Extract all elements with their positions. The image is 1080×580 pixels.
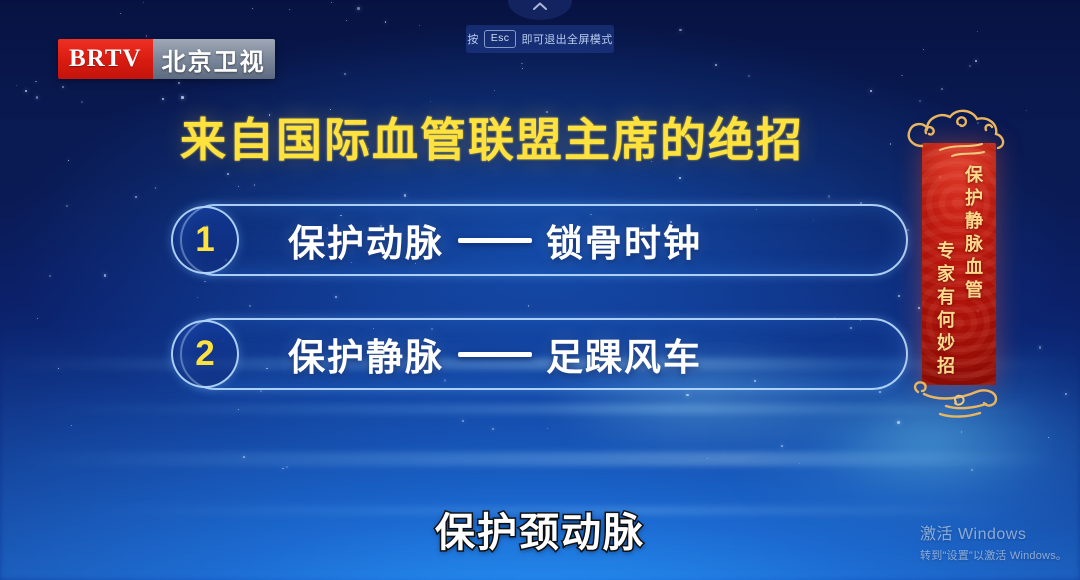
channel-logo-chinese: 北京卫视	[153, 39, 275, 79]
banner-column-left: 专家有何妙招	[932, 165, 958, 385]
list-item-text: 保护静脉 足踝风车	[288, 327, 702, 381]
video-player-fullscreen: 按 Esc 即可退出全屏模式 BRTV 北京卫视 来自国际血管联盟主席的绝招 1…	[0, 0, 1080, 580]
list-item: 1 保护动脉 锁骨时钟	[180, 204, 908, 276]
esc-key-badge: Esc	[484, 30, 517, 48]
banner-column-right: 保护静脉血管	[960, 165, 986, 385]
subtitle-caption: 保护颈动脉	[0, 500, 1080, 558]
esc-hint-suffix: 即可退出全屏模式	[521, 31, 612, 47]
page-title: 来自国际血管联盟主席的绝招	[180, 104, 804, 170]
watermark-subtitle: 转到"设置"以激活 Windows。	[920, 547, 1067, 563]
list-item-left-text: 保护静脉	[288, 327, 444, 381]
background-stars	[0, 0, 1080, 580]
esc-hint-prefix: 按	[467, 31, 478, 47]
list-item: 2 保护静脉 足踝风车	[180, 318, 908, 390]
list-item-right-text: 足踝风车	[546, 327, 702, 381]
dash-separator-icon	[458, 352, 532, 357]
vertical-scroll-banner: 保护静脉血管 专家有何妙招	[922, 143, 996, 385]
chevron-up-icon	[532, 0, 548, 16]
list-item-text: 保护动脉 锁骨时钟	[288, 213, 702, 267]
list-item-left-text: 保护动脉	[288, 213, 444, 267]
channel-logo-latin: BRTV	[58, 39, 153, 79]
windows-activation-watermark: 激活 Windows 转到"设置"以激活 Windows。	[920, 520, 1067, 563]
list-item-number: 1	[171, 206, 239, 274]
list-item-right-text: 锁骨时钟	[546, 213, 702, 267]
channel-logo: BRTV 北京卫视	[58, 39, 275, 79]
dash-separator-icon	[458, 238, 532, 243]
list-item-number: 2	[171, 320, 239, 388]
watermark-title: 激活 Windows	[920, 520, 1067, 544]
banner-text: 保护静脉血管 专家有何妙招	[922, 143, 996, 385]
exit-fullscreen-hint: 按 Esc 即可退出全屏模式	[466, 25, 614, 53]
